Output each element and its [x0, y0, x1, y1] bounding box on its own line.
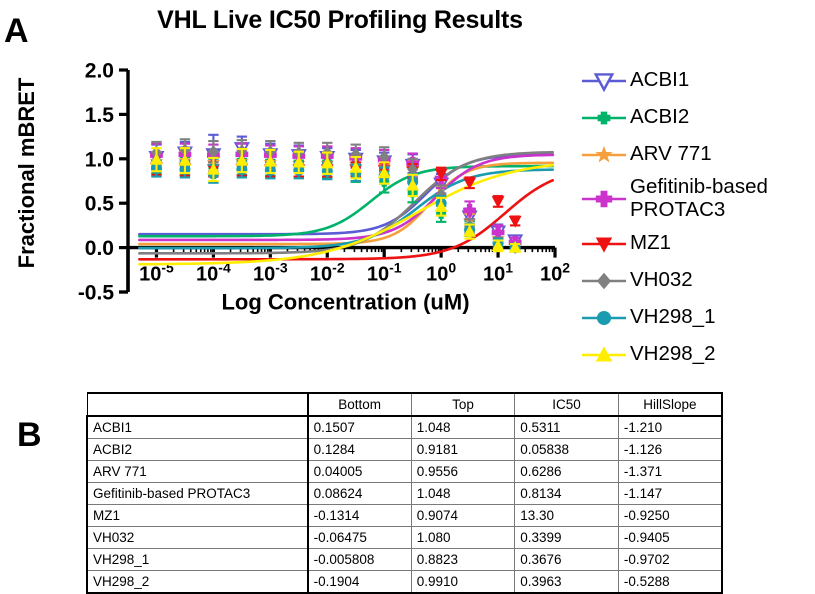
table-cell-hillslope: -0.9405: [618, 527, 722, 549]
table-cell-bottom: 0.08624: [308, 483, 412, 505]
table-cell-bottom: 0.04005: [308, 461, 412, 483]
triangle-down-filled-icon: [578, 229, 630, 259]
table-row: VH032-0.064751.0800.3399-0.9405: [87, 527, 722, 549]
x-tick-label: 10-3: [253, 260, 288, 286]
table-cell-compound: ACBI1: [87, 416, 308, 439]
table-cell-bottom: -0.005808: [308, 549, 412, 571]
table-cell-bottom: 0.1284: [308, 439, 412, 461]
table-cell-ic50: 0.8134: [515, 483, 619, 505]
table-cell-ic50: 13.30: [515, 505, 619, 527]
table-cell-top: 0.9074: [411, 505, 515, 527]
legend-item-label: VH032: [630, 269, 693, 292]
table-cell-hillslope: -0.9250: [618, 505, 722, 527]
table-cell-hillslope: -0.9702: [618, 549, 722, 571]
x-tick-label: 10-1: [367, 260, 402, 286]
table-cell-compound: VH298_1: [87, 549, 308, 571]
legend-item-label: MZ1: [630, 232, 671, 255]
chart-title: VHL Live IC50 Profiling Results: [130, 6, 550, 35]
table-cell-ic50: 0.05838: [515, 439, 619, 461]
table-cell-top: 1.080: [411, 527, 515, 549]
table-cell-compound: MZ1: [87, 505, 308, 527]
table-cell-hillslope: -1.126: [618, 439, 722, 461]
legend-item-label: ACBI1: [630, 69, 689, 92]
y-tick-label: 0.5: [85, 193, 115, 216]
table-cell-hillslope: -0.5288: [618, 571, 722, 594]
chart-legend: ACBI1ACBI2ARV 771Gefitinib-based PROTAC3…: [578, 62, 815, 373]
y-tick-label: 1.0: [85, 148, 114, 171]
table-cell-top: 0.9910: [411, 571, 515, 594]
plus-icon: [578, 184, 630, 214]
legend-item-label: ARV 771: [630, 143, 712, 166]
diamond-icon: [578, 266, 630, 296]
triangle-up-filled-icon: [578, 340, 630, 370]
table-cell-ic50: 0.3676: [515, 549, 619, 571]
x-tick-label: 101: [483, 260, 513, 286]
table-col-header: IC50: [515, 393, 619, 416]
y-tick-label: -0.5: [78, 282, 115, 305]
legend-item-acbi2[interactable]: ACBI2: [578, 99, 815, 136]
table-col-header: HillSlope: [618, 393, 722, 416]
y-tick-label: 1.5: [85, 104, 115, 127]
plot-svg: 2.01.51.00.50.0-0.510-510-410-310-210-11…: [0, 40, 580, 370]
dose-response-plot: 2.01.51.00.50.0-0.510-510-410-310-210-11…: [0, 40, 580, 370]
table-cell-hillslope: -1.210: [618, 416, 722, 439]
table-cell-bottom: -0.06475: [308, 527, 412, 549]
legend-item-vh032[interactable]: VH032: [578, 262, 815, 299]
table-row: VH298_1-0.0058080.88230.3676-0.9702: [87, 549, 722, 571]
table-cell-compound: VH298_2: [87, 571, 308, 594]
table-row: MZ1-0.13140.907413.30-0.9250: [87, 505, 722, 527]
table-row: ACBI20.12840.91810.05838-1.126: [87, 439, 722, 461]
circle-icon: [578, 303, 630, 333]
x-axis-title: Log Concentration (uM): [221, 290, 469, 315]
table-cell-ic50: 0.5311: [515, 416, 619, 439]
table-col-header: Top: [411, 393, 515, 416]
table-cell-hillslope: -1.147: [618, 483, 722, 505]
legend-item-arv-771[interactable]: ARV 771: [578, 136, 815, 173]
cross-thick-icon: [578, 103, 630, 133]
table-cell-compound: Gefitinib-based PROTAC3: [87, 483, 308, 505]
table-cell-ic50: 0.3963: [515, 571, 619, 594]
table-cell-compound: VH032: [87, 527, 308, 549]
y-axis-ticks: 2.01.51.00.50.0-0.5: [78, 60, 128, 305]
table-cell-compound: ACBI2: [87, 439, 308, 461]
y-axis-title: Fractional mBRET: [14, 77, 39, 268]
table-col-header: [87, 393, 308, 416]
legend-item-vh298-2[interactable]: VH298_2: [578, 336, 815, 373]
legend-item-label: VH298_2: [630, 343, 715, 366]
table-cell-bottom: -0.1314: [308, 505, 412, 527]
table-cell-top: 0.9181: [411, 439, 515, 461]
star-icon: [578, 140, 630, 170]
x-tick-label: 100: [426, 260, 456, 286]
legend-item-vh298-1[interactable]: VH298_1: [578, 299, 815, 336]
legend-item-gefitinib-based-protac3[interactable]: Gefitinib-based PROTAC3: [578, 173, 815, 225]
panel-b-label: B: [17, 418, 42, 452]
table-row: ARV 7710.040050.95560.6286-1.371: [87, 461, 722, 483]
x-tick-label: 10-2: [310, 260, 345, 286]
table-cell-hillslope: -1.371: [618, 461, 722, 483]
table-col-header: Bottom: [308, 393, 412, 416]
table-cell-top: 1.048: [411, 483, 515, 505]
table-cell-ic50: 0.3399: [515, 527, 619, 549]
table-cell-bottom: 0.1507: [308, 416, 412, 439]
y-tick-label: 0.0: [85, 237, 114, 260]
legend-item-label: ACBI2: [630, 106, 689, 129]
table-cell-top: 0.8823: [411, 549, 515, 571]
triangle-down-open-icon: [578, 66, 630, 96]
table-cell-top: 1.048: [411, 416, 515, 439]
table-row: Gefitinib-based PROTAC30.086241.0480.813…: [87, 483, 722, 505]
fit-parameters-table: BottomTopIC50HillSlope ACBI10.15071.0480…: [86, 392, 723, 594]
legend-item-acbi1[interactable]: ACBI1: [578, 62, 815, 99]
table-cell-top: 0.9556: [411, 461, 515, 483]
table-cell-bottom: -0.1904: [308, 571, 412, 594]
table-row: VH298_2-0.19040.99100.3963-0.5288: [87, 571, 722, 594]
table-cell-compound: ARV 771: [87, 461, 308, 483]
table-row: ACBI10.15071.0480.5311-1.210: [87, 416, 722, 439]
legend-item-mz1[interactable]: MZ1: [578, 225, 815, 262]
table-cell-ic50: 0.6286: [515, 461, 619, 483]
legend-item-label: VH298_1: [630, 306, 715, 329]
fit-curve: [139, 155, 552, 240]
legend-item-label: Gefitinib-based PROTAC3: [630, 176, 768, 222]
y-tick-label: 2.0: [85, 60, 114, 83]
table-header-row: BottomTopIC50HillSlope: [87, 393, 722, 416]
x-tick-label: 102: [540, 260, 570, 286]
table-body: ACBI10.15071.0480.5311-1.210ACBI20.12840…: [87, 416, 722, 593]
